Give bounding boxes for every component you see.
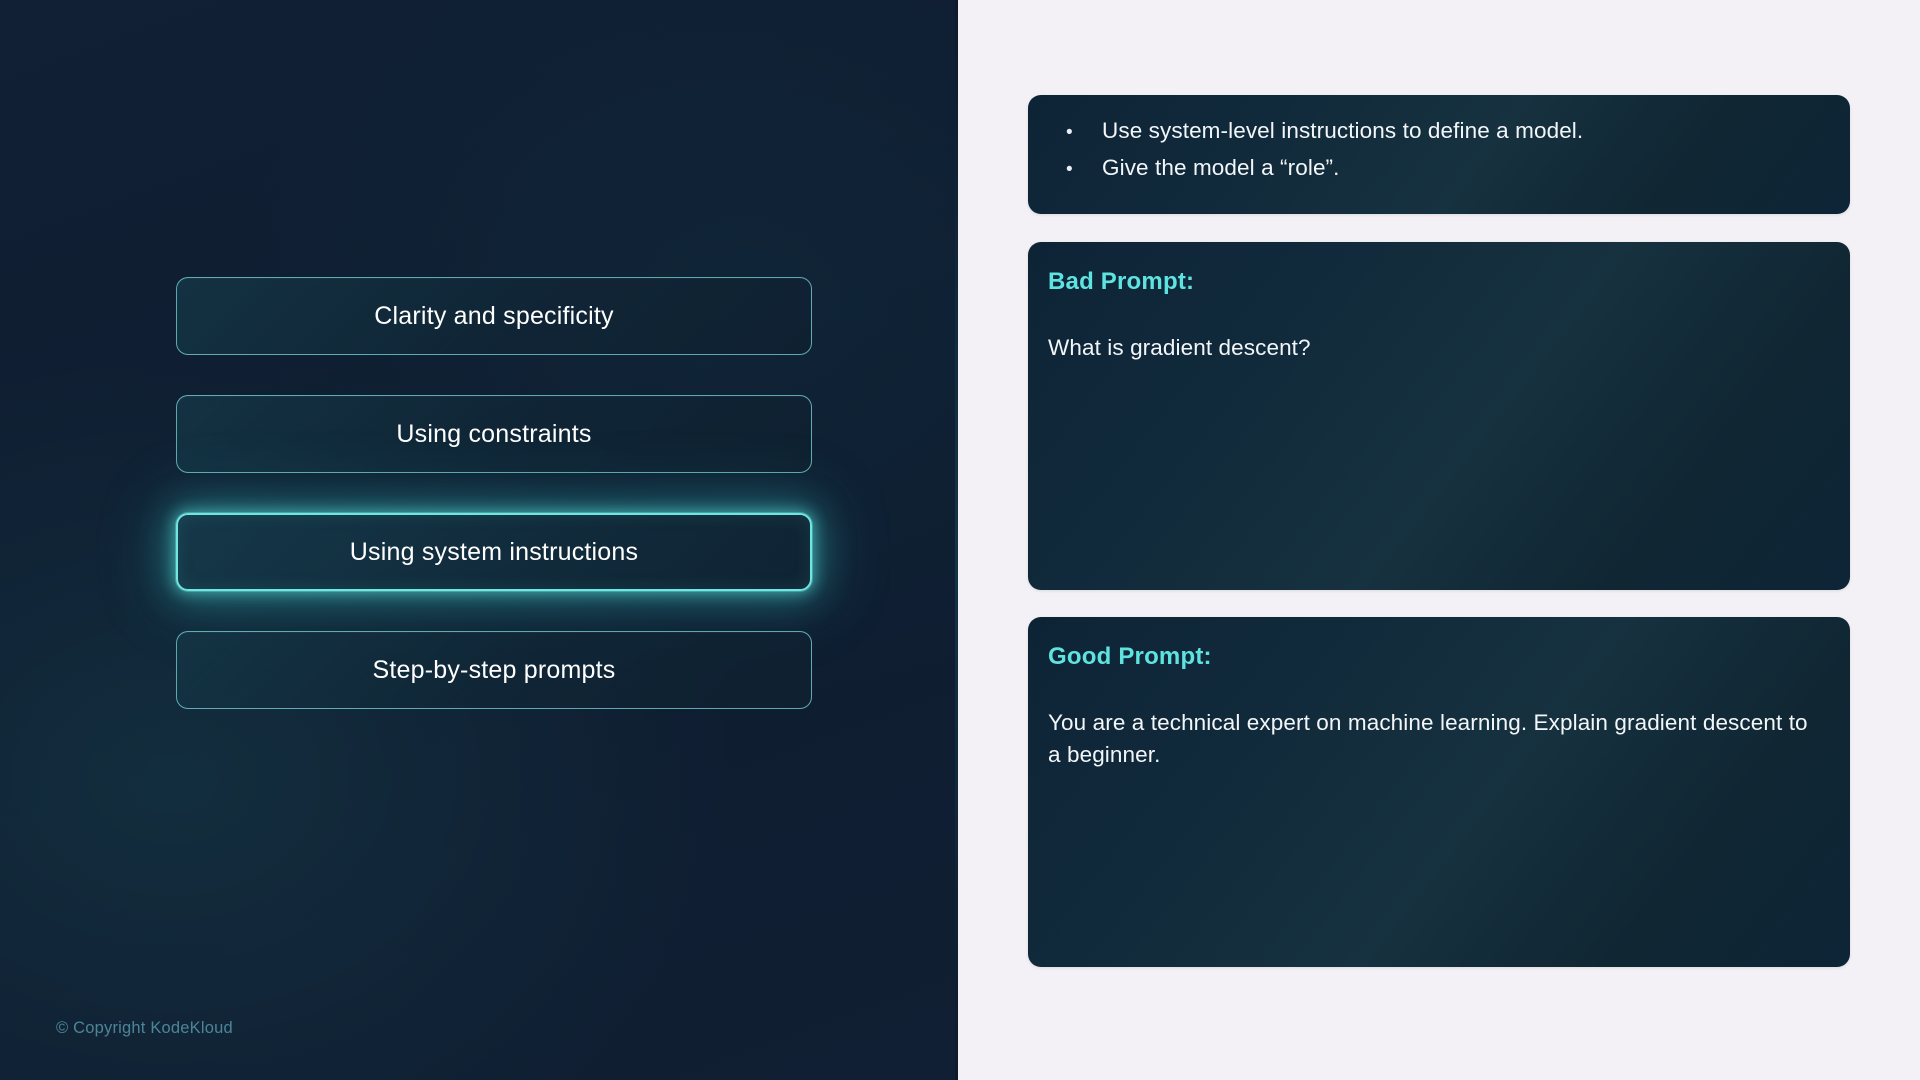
- topic-menu: Clarity and specificity Using constraint…: [176, 277, 812, 709]
- bad-prompt-card: Bad Prompt: What is gradient descent?: [1028, 242, 1850, 590]
- bad-prompt-heading: Bad Prompt:: [1048, 268, 1828, 296]
- good-prompt-text: You are a technical expert on machine le…: [1048, 707, 1808, 771]
- left-panel: Clarity and specificity Using constraint…: [0, 0, 958, 1080]
- menu-item-clarity-and-specificity[interactable]: Clarity and specificity: [176, 277, 812, 355]
- menu-item-label: Clarity and specificity: [374, 302, 613, 331]
- bad-prompt-text: What is gradient descent?: [1048, 332, 1808, 364]
- key-points-list: • Use system-level instructions to defin…: [1028, 95, 1850, 182]
- menu-item-label: Using constraints: [396, 420, 591, 449]
- list-item-label: Give the model a “role”.: [1102, 154, 1340, 182]
- menu-item-using-constraints[interactable]: Using constraints: [176, 395, 812, 473]
- bad-prompt-card-content: Bad Prompt: What is gradient descent?: [1028, 242, 1850, 364]
- bullet-point-icon: •: [1058, 160, 1102, 179]
- menu-item-step-by-step-prompts[interactable]: Step-by-step prompts: [176, 631, 812, 709]
- list-item: • Use system-level instructions to defin…: [1058, 117, 1850, 145]
- list-item-label: Use system-level instructions to define …: [1102, 117, 1583, 145]
- good-prompt-card-content: Good Prompt: You are a technical expert …: [1028, 617, 1850, 771]
- good-prompt-card: Good Prompt: You are a technical expert …: [1028, 617, 1850, 967]
- menu-item-label: Using system instructions: [350, 538, 638, 567]
- list-item: • Give the model a “role”.: [1058, 154, 1850, 182]
- menu-item-label: Step-by-step prompts: [373, 656, 616, 685]
- bullet-point-icon: •: [1058, 123, 1102, 142]
- good-prompt-heading: Good Prompt:: [1048, 643, 1828, 671]
- right-panel: • Use system-level instructions to defin…: [958, 0, 1920, 1080]
- slide: Clarity and specificity Using constraint…: [0, 0, 1920, 1080]
- menu-item-using-system-instructions[interactable]: Using system instructions: [176, 513, 812, 591]
- copyright-notice: © Copyright KodeKloud: [56, 1019, 233, 1038]
- key-points-card: • Use system-level instructions to defin…: [1028, 95, 1850, 214]
